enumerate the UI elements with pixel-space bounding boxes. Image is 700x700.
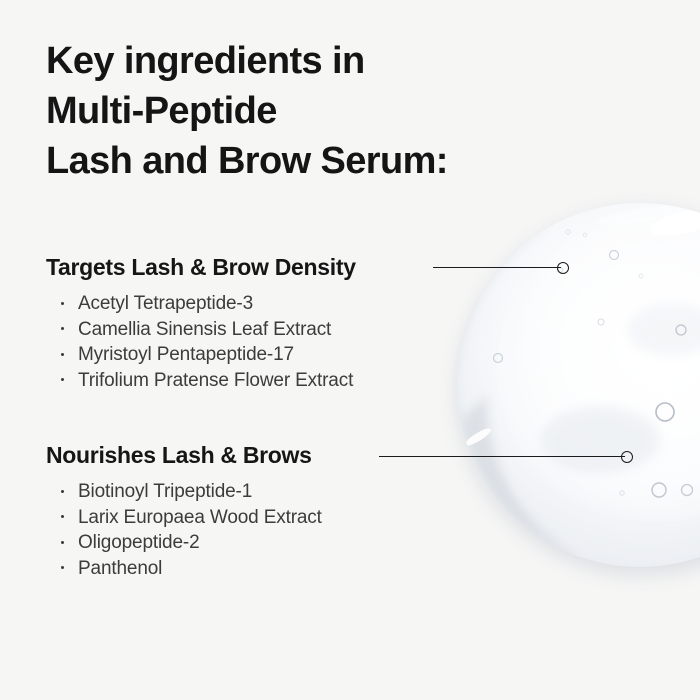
page-title: Key ingredients in Multi-Peptide Lash an… xyxy=(46,36,566,186)
bullet-dot-icon xyxy=(61,302,64,305)
title-line-3: Lash and Brow Serum: xyxy=(46,136,566,186)
infographic-canvas: Key ingredients in Multi-Peptide Lash an… xyxy=(0,0,700,700)
bullet-dot-icon xyxy=(61,378,64,381)
ingredient-label: Biotinoyl Tripeptide-1 xyxy=(78,481,252,502)
list-item: Acetyl Tetrapeptide-3 xyxy=(46,291,356,317)
section-heading-nourish: Nourishes Lash & Brows xyxy=(46,440,322,470)
list-item: Oligopeptide-2 xyxy=(46,530,322,556)
list-item: Panthenol xyxy=(46,556,322,582)
bullet-dot-icon xyxy=(61,327,64,330)
ingredient-label: Oligopeptide-2 xyxy=(78,532,199,553)
leader-endpoint-circle-icon xyxy=(557,262,569,274)
list-item: Biotinoyl Tripeptide-1 xyxy=(46,479,322,505)
section-heading-density: Targets Lash & Brow Density xyxy=(46,252,356,282)
benefit-section-nourish: Nourishes Lash & Brows Biotinoyl Tripept… xyxy=(46,440,322,581)
ingredient-label: Acetyl Tetrapeptide-3 xyxy=(78,293,253,314)
list-item: Camellia Sinensis Leaf Extract xyxy=(46,317,356,343)
bullet-dot-icon xyxy=(61,566,64,569)
list-item: Larix Europaea Wood Extract xyxy=(46,505,322,531)
list-item: Myristoyl Pentapeptide-17 xyxy=(46,342,356,368)
ingredient-label: Myristoyl Pentapeptide-17 xyxy=(78,344,294,365)
leader-line-nourish xyxy=(379,456,625,457)
bullet-dot-icon xyxy=(61,490,64,493)
list-item: Trifolium Pratense Flower Extract xyxy=(46,368,356,394)
title-line-1: Key ingredients in xyxy=(46,36,566,86)
bullet-dot-icon xyxy=(61,353,64,356)
ingredient-label: Larix Europaea Wood Extract xyxy=(78,507,322,528)
ingredient-label: Panthenol xyxy=(78,558,162,579)
ingredient-label: Trifolium Pratense Flower Extract xyxy=(78,370,353,391)
leader-endpoint-circle-icon xyxy=(621,451,633,463)
title-line-2: Multi-Peptide xyxy=(46,86,566,136)
leader-line-density xyxy=(433,267,561,268)
ingredient-label: Camellia Sinensis Leaf Extract xyxy=(78,319,331,340)
bullet-dot-icon xyxy=(61,541,64,544)
bullet-dot-icon xyxy=(61,515,64,518)
ingredient-list-density: Acetyl Tetrapeptide-3 Camellia Sinensis … xyxy=(46,291,356,393)
benefit-section-density: Targets Lash & Brow Density Acetyl Tetra… xyxy=(46,252,356,393)
ingredient-list-nourish: Biotinoyl Tripeptide-1 Larix Europaea Wo… xyxy=(46,479,322,581)
